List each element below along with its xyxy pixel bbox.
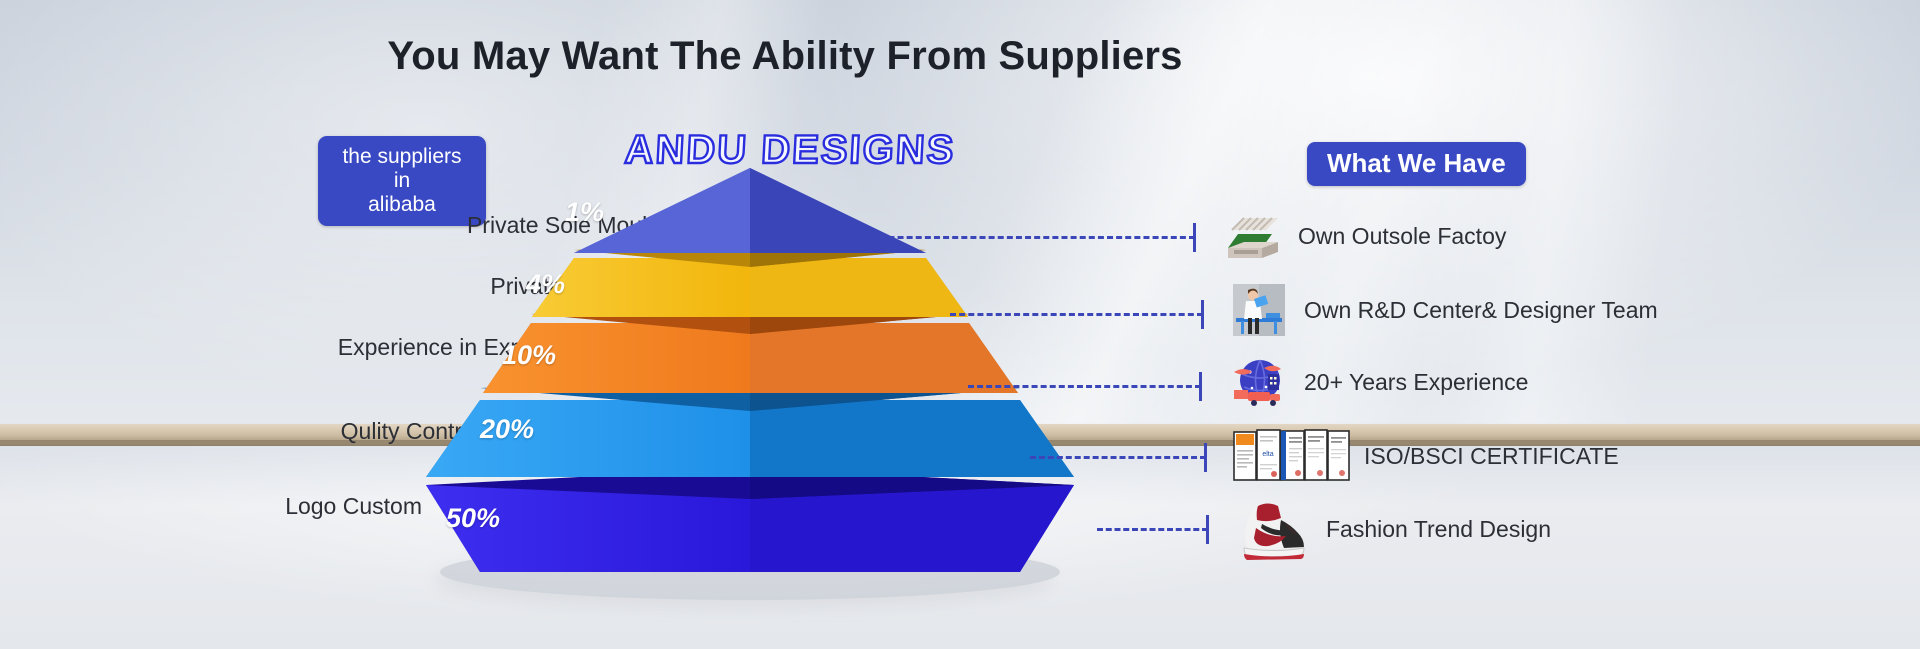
sneaker-icon [1240, 498, 1312, 560]
connector-dash-2 [950, 313, 1203, 316]
connector-line-1 [852, 236, 1195, 238]
page-title: You May Want The Ability From Suppliers [0, 34, 1570, 79]
designer-icon [1228, 282, 1290, 338]
svg-text:elta: elta [1262, 451, 1273, 458]
connector-line-3 [968, 385, 1201, 387]
capability-item-fashion-trend-design: Fashion Trend Design [1240, 498, 1551, 560]
connector-tick-5 [1206, 515, 1209, 544]
tier-label-logo-custom: Logo Custom [40, 493, 422, 520]
connector-line-5 [1097, 528, 1208, 530]
connector-tick-4 [1204, 443, 1207, 472]
capability-label-1: Own Outsole Factoy [1298, 223, 1506, 250]
capability-label-2: Own R&D Center& Designer Team [1304, 297, 1658, 324]
brand-wordmark: ANDU DESIGNS [619, 128, 961, 173]
connector-dash-1 [852, 236, 1195, 239]
pyramid-percent-4: 20% [480, 414, 534, 445]
pyramid-percent-2: 4% [526, 269, 565, 300]
capability-item-own-outsole-factory: Own Outsole Factoy [1222, 208, 1506, 264]
certificates-icon: elta [1232, 428, 1350, 484]
pyramid-level-5 [426, 468, 1074, 572]
capability-label-4: ISO/BSCI CERTIFICATE [1364, 443, 1619, 470]
connector-tick-1 [1193, 223, 1196, 252]
capability-item-iso-bsci-certificate: elta [1232, 428, 1619, 484]
capability-item-20-years-experience: 20+ Years Experience [1228, 354, 1528, 410]
capability-item-rd-center: Own R&D Center& Designer Team [1228, 282, 1658, 338]
factory-icon [1222, 208, 1284, 264]
connector-line-2 [950, 313, 1203, 315]
connector-dash-5 [1097, 528, 1208, 531]
connector-dash-4 [1030, 456, 1206, 459]
pyramid-percent-3: 10% [502, 340, 556, 371]
capability-label-3: 20+ Years Experience [1304, 369, 1528, 396]
pyramid-percent-5: 50% [446, 503, 500, 534]
pyramid-level-1 [574, 168, 926, 253]
connector-line-4 [1030, 456, 1206, 458]
badge-what-we-have: What We Have [1307, 142, 1526, 186]
pyramid-percent-1: 1% [565, 197, 604, 228]
connector-tick-3 [1199, 372, 1202, 401]
connector-dash-3 [968, 385, 1201, 388]
connector-tick-2 [1201, 300, 1204, 329]
pyramid-level-3 [483, 305, 1018, 393]
pyramid-level-2 [532, 242, 968, 317]
globe-shipping-icon [1228, 354, 1290, 410]
capability-label-5: Fashion Trend Design [1326, 516, 1551, 543]
